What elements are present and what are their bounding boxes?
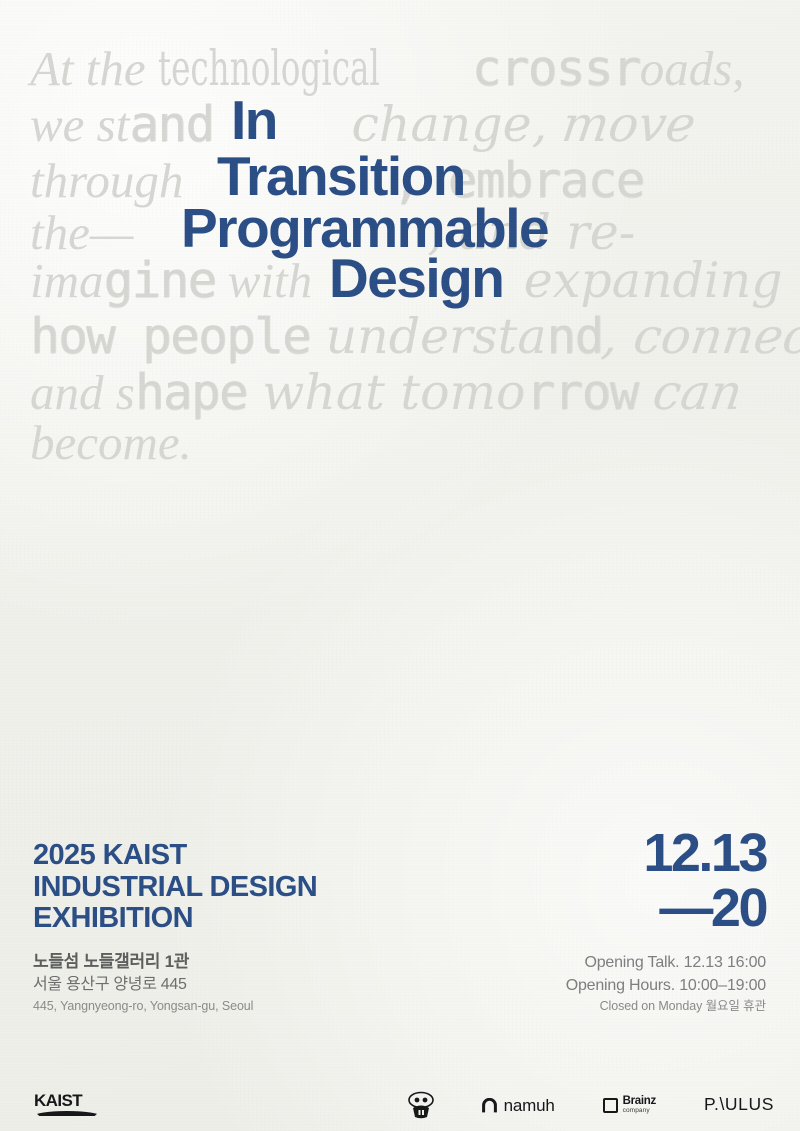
kaist-wordmark-icon: KAIST xyxy=(34,1092,100,1109)
venue-block: 노들섬 노들갤러리 1관 서울 용산구 양녕로 445 445, Yangnye… xyxy=(33,951,317,1016)
paulus-wordmark: P.\ULUS xyxy=(704,1096,774,1114)
mushroom-creature-mark-icon xyxy=(408,1091,434,1119)
date-schedule-block: 12.13 —20 Opening Talk. 12.13 16:00 Open… xyxy=(566,826,766,1016)
background-text-segment: understa xyxy=(310,308,547,365)
background-text-line: and shape what tomorrow can xyxy=(30,368,790,418)
date-start: 12.13 xyxy=(566,826,766,882)
background-text-segment: oads, xyxy=(640,41,745,96)
closed-notice: Closed on Monday 월요일 휴관 xyxy=(566,998,766,1016)
background-text-segment: crossr xyxy=(472,40,640,97)
background-text-segment: expanding xyxy=(508,252,782,309)
title-line-2: INDUSTRIAL DESIGN xyxy=(33,872,317,904)
brainz-wordmark: Brainz xyxy=(623,1096,656,1108)
opening-hours: Opening Hours. 10:00–19:00 xyxy=(566,975,766,998)
background-text-line: At the technological crossroads, xyxy=(30,44,790,94)
background-text-segment: ima xyxy=(30,253,104,308)
background-text-segment: technological xyxy=(158,44,390,93)
schedule-details: Opening Talk. 12.13 16:00 Opening Hours.… xyxy=(566,952,766,1016)
background-text-segment: rrow xyxy=(526,364,638,421)
opening-talk-time: Opening Talk. 12.13 16:00 xyxy=(566,952,766,975)
headline-word-transition: Transition xyxy=(217,149,465,204)
background-text-segment: can xyxy=(634,368,745,417)
background-text-segment: we st xyxy=(30,97,129,152)
namuh-wordmark: namuh xyxy=(504,1097,555,1114)
date-range: 12.13 —20 xyxy=(566,826,766,937)
title-line-1: 2025 KAIST xyxy=(33,840,317,872)
venue-address-korean: 서울 용산구 양녕로 445 xyxy=(33,974,317,996)
kaist-logo: KAIST xyxy=(34,1092,100,1118)
title-line-3: EXHIBITION xyxy=(33,903,317,935)
brainz-logo: Brainz company xyxy=(603,1096,656,1115)
background-text-segment: hape xyxy=(135,364,247,421)
background-text-segment: and xyxy=(129,96,213,153)
background-text-segment: with xyxy=(216,253,313,308)
brainz-square-icon xyxy=(603,1098,618,1113)
partner-logos: namuh Brainz company P.\ULUS xyxy=(408,1079,774,1131)
headline-word-in: In xyxy=(231,93,277,148)
kaist-swoosh-icon xyxy=(34,1111,100,1116)
headline-word-design: Design xyxy=(329,251,503,306)
paulus-logo: P.\ULUS xyxy=(704,1096,774,1114)
background-text-segment: through xyxy=(30,153,183,208)
background-text-segment: what tomo xyxy=(247,364,526,421)
background-text-segment: gine xyxy=(104,252,216,309)
background-text-line: become. xyxy=(30,418,790,468)
background-text-segment: how people xyxy=(30,308,310,365)
exhibition-info-block: 2025 KAIST INDUSTRIAL DESIGN EXHIBITION … xyxy=(33,840,317,1016)
page-title: 2025 KAIST INDUSTRIAL DESIGN EXHIBITION xyxy=(33,840,317,935)
venue-name: 노들섬 노들갤러리 1관 xyxy=(33,951,317,974)
background-text-segment: become. xyxy=(30,415,192,470)
venue-address-english: 445, Yangnyeong-ro, Yongsan-gu, Seoul xyxy=(33,997,317,1016)
namuh-logo: namuh xyxy=(482,1097,555,1114)
background-text-segment: and s xyxy=(30,365,135,420)
background-text-segment: , connect, xyxy=(599,312,800,361)
brainz-sublabel: company xyxy=(623,1108,656,1115)
exhibition-poster: At the technological crossroads, we stan… xyxy=(0,0,800,1131)
background-text-segment: nd xyxy=(547,308,603,365)
headline-block: At the technological crossroads, we stan… xyxy=(0,0,800,470)
background-text-segment: move xyxy=(544,100,699,149)
logo-bar: KAIST namuh xyxy=(0,1079,800,1131)
background-text-line: how people understand, connect, xyxy=(30,312,790,362)
namuh-arch-icon xyxy=(482,1098,497,1113)
background-text-line: we stand change, move xyxy=(30,100,790,150)
date-end: —20 xyxy=(566,881,766,937)
background-text-segment: At the xyxy=(30,41,158,96)
